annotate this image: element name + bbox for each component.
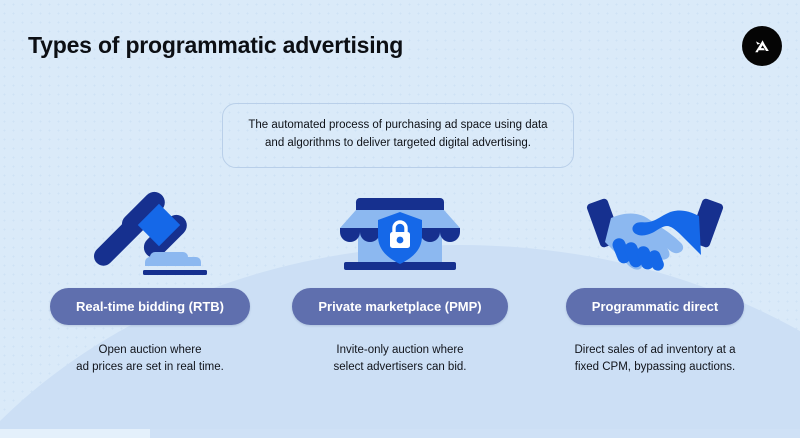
description-callout: The automated process of purchasing ad s…	[222, 103, 574, 168]
caption-programmatic-direct: Direct sales of ad inventory at a fixed …	[574, 342, 735, 377]
label-private-marketplace[interactable]: Private marketplace (PMP)	[292, 288, 507, 325]
infographic-canvas: Types of programmatic advertising The au…	[0, 0, 800, 438]
column-private-marketplace: Private marketplace (PMP) Invite-only au…	[267, 180, 533, 377]
bottom-strip-right	[150, 429, 800, 438]
gavel-icon	[87, 180, 213, 278]
marketplace-shop-shield-lock-icon	[330, 180, 470, 278]
brand-a-logo-icon	[742, 26, 782, 66]
handshake-icon	[585, 180, 725, 278]
caption-real-time-bidding: Open auction where ad prices are set in …	[76, 342, 224, 377]
caption-private-marketplace: Invite-only auction where select adverti…	[334, 342, 467, 377]
page-title: Types of programmatic advertising	[28, 32, 403, 59]
column-programmatic-direct: Programmatic direct Direct sales of ad i…	[522, 180, 788, 377]
column-real-time-bidding: Real-time bidding (RTB) Open auction whe…	[17, 180, 283, 377]
label-programmatic-direct[interactable]: Programmatic direct	[566, 288, 744, 325]
label-real-time-bidding[interactable]: Real-time bidding (RTB)	[50, 288, 250, 325]
